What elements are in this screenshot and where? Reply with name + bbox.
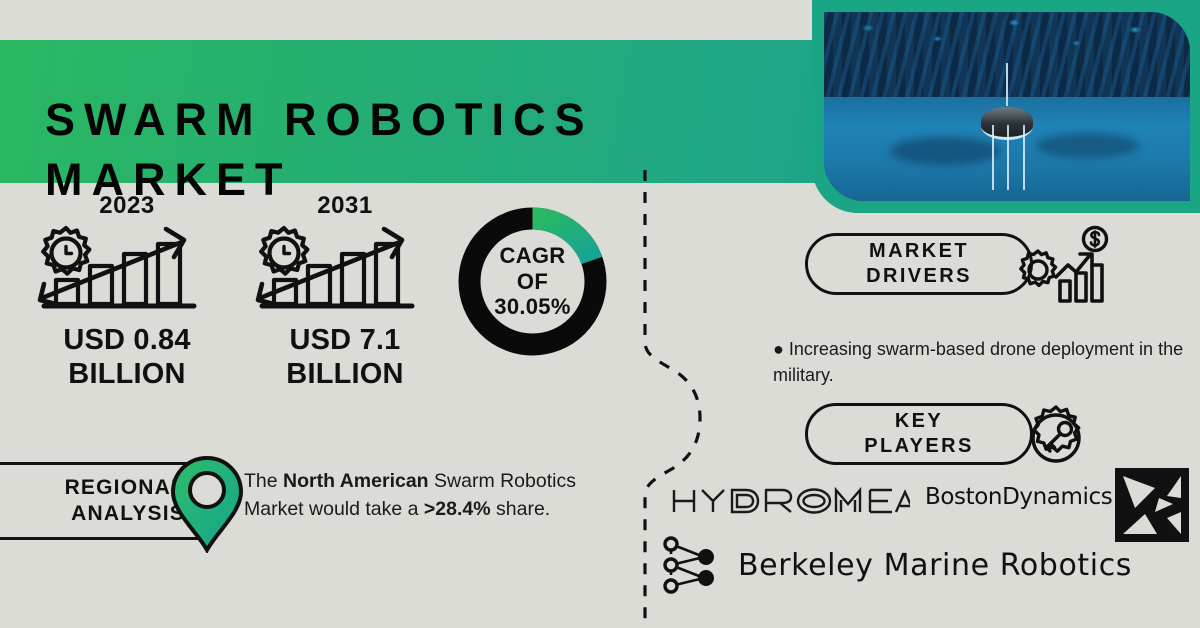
key-gear-icon: [1016, 398, 1096, 478]
header-banner: SWARM ROBOTICS MARKET: [0, 40, 818, 183]
regional-analysis-text: The North American Swarm Robotics Market…: [244, 468, 624, 523]
section-divider: [600, 170, 740, 628]
stat-year: 2023: [32, 192, 222, 220]
hero-image: [824, 12, 1190, 201]
stat-value: USD 7.1 BILLION: [250, 323, 440, 391]
regional-text-part: share.: [491, 498, 551, 520]
map-pin-icon: [168, 455, 246, 553]
key-players-label: KEY PLAYERS: [864, 409, 973, 459]
stat-year: 2031: [250, 192, 440, 220]
stat-2031: 2031 USD 7.1 BILLION: [250, 192, 440, 391]
cagr-label: CAGR OF 30.05%: [455, 204, 610, 359]
market-drivers-list: ● Increasing swarm-based drone deploymen…: [733, 336, 1193, 388]
regional-text-part: The: [244, 470, 283, 492]
hero-image-frame: [812, 0, 1200, 213]
infographic-stage: SWARM ROBOTICS MARKET 2023: [0, 0, 1200, 628]
list-item: ● Increasing swarm-based drone deploymen…: [773, 336, 1193, 388]
growth-chart-icon: [250, 222, 440, 318]
logo-company-mark[interactable]: [1115, 468, 1189, 542]
gear-dollar-growth-icon: [1016, 225, 1112, 307]
stat-value: USD 0.84 BILLION: [32, 323, 222, 391]
stat-2023: 2023 USD 0.84 BILLION: [32, 192, 222, 391]
logo-boston-dynamics-text: BostonDynamics: [925, 484, 1112, 510]
cagr-donut: CAGR OF 30.05%: [455, 204, 610, 359]
logo-berkeley-text: Berkeley Marine Robotics: [738, 548, 1132, 583]
market-drivers-label: MARKET DRIVERS: [866, 239, 972, 289]
robot-tether: [1006, 63, 1008, 106]
regional-text-part: North American: [283, 470, 429, 492]
market-drivers-pill: MARKET DRIVERS: [805, 233, 1033, 295]
regional-analysis-label: REGIONAL ANALYSIS: [65, 475, 185, 526]
logo-boston-dynamics[interactable]: BostonDynamics: [925, 484, 1112, 510]
growth-chart-icon: [32, 222, 222, 318]
robot-leg: [992, 125, 994, 189]
regional-text-part: >28.4%: [424, 498, 491, 520]
robot-leg: [1023, 125, 1025, 189]
logo-berkeley-marine-robotics[interactable]: Berkeley Marine Robotics: [738, 548, 1132, 583]
robot-leg: [1007, 125, 1009, 189]
key-players-pill: KEY PLAYERS: [805, 403, 1033, 465]
